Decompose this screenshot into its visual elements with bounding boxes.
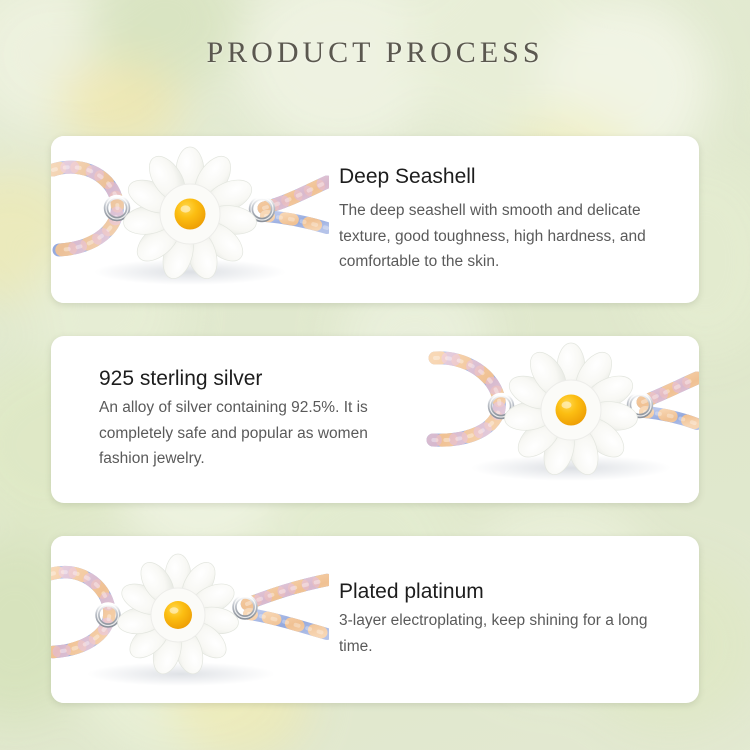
product-photo <box>51 136 329 303</box>
card-body: 3-layer electroplating, keep shining for… <box>339 608 673 658</box>
feature-card-deep-seashell: Deep Seashell The deep seashell with smo… <box>51 136 699 303</box>
card-title: Deep Seashell <box>339 165 673 189</box>
daisy-bracelet-illustration <box>51 536 329 703</box>
daisy-bracelet-illustration <box>421 336 699 503</box>
product-photo <box>51 536 329 703</box>
product-photo <box>421 336 699 503</box>
page-title: PRODUCT PROCESS <box>0 36 750 70</box>
card-copy: Deep Seashell The deep seashell with smo… <box>329 136 699 303</box>
daisy-bracelet-illustration <box>51 136 329 303</box>
card-title: 925 sterling silver <box>99 367 411 391</box>
product-process-poster: PRODUCT PROCESS <box>0 0 750 750</box>
card-body: An alloy of silver containing 92.5%. It … <box>99 395 411 472</box>
feature-card-plated-platinum: Plated platinum 3-layer electroplating, … <box>51 536 699 703</box>
card-copy: Plated platinum 3-layer electroplating, … <box>329 536 699 703</box>
card-copy: 925 sterling silver An alloy of silver c… <box>51 336 421 503</box>
feature-card-sterling-silver: 925 sterling silver An alloy of silver c… <box>51 336 699 503</box>
card-title: Plated platinum <box>339 580 673 604</box>
card-body: The deep seashell with smooth and delica… <box>339 198 673 273</box>
